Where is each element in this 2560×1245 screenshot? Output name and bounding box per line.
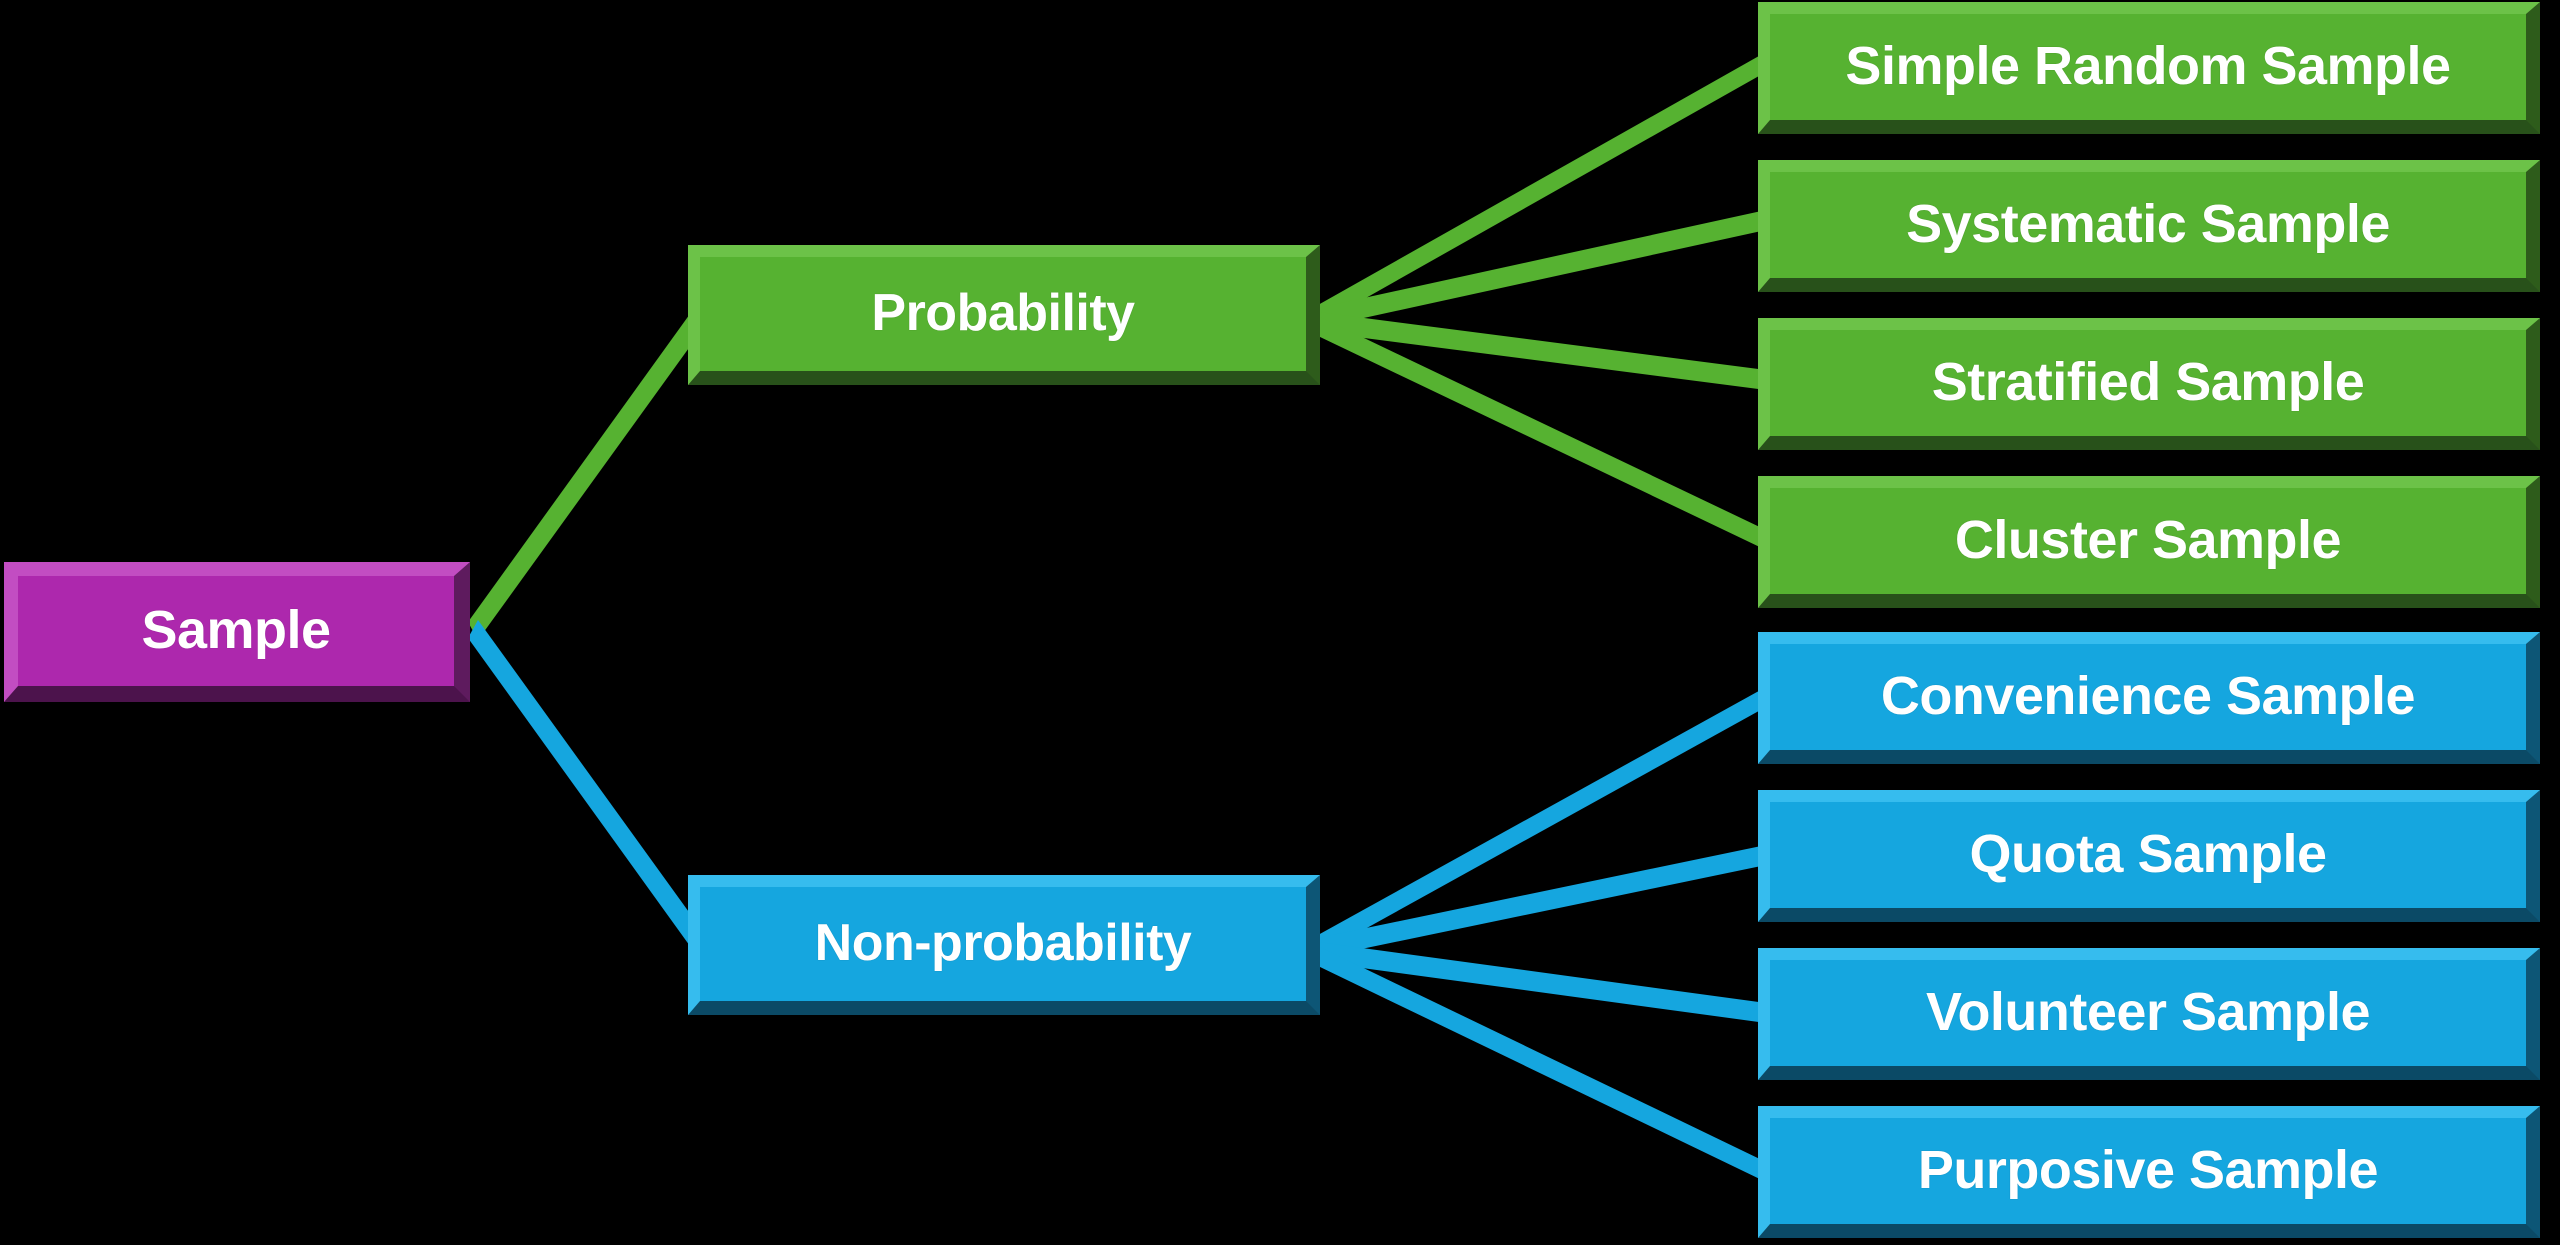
node-purposive-sample-label: Purposive Sample <box>1918 1143 2378 1197</box>
node-simple-random-sample-label: Simple Random Sample <box>1845 39 2450 93</box>
node-simple-random-sample[interactable]: Simple Random Sample <box>1758 2 2540 134</box>
node-sample[interactable]: Sample <box>4 562 470 702</box>
node-sample-label: Sample <box>141 603 330 657</box>
node-nonprobability-label: Non-probability <box>815 917 1192 969</box>
node-stratified-sample-label: Stratified Sample <box>1932 355 2365 409</box>
node-quota-sample-label: Quota Sample <box>1969 827 2326 881</box>
node-convenience-sample-label: Convenience Sample <box>1881 669 2415 723</box>
edge-sample-to-probability <box>468 300 712 640</box>
node-convenience-sample[interactable]: Convenience Sample <box>1758 632 2540 764</box>
edge-nonprobability-to-convenience <box>1318 687 1766 955</box>
node-volunteer-sample-label: Volunteer Sample <box>1926 985 2370 1039</box>
node-quota-sample[interactable]: Quota Sample <box>1758 790 2540 922</box>
node-systematic-sample-label: Systematic Sample <box>1906 197 2390 251</box>
node-probability[interactable]: Probability <box>688 245 1320 385</box>
node-stratified-sample[interactable]: Stratified Sample <box>1758 318 2540 450</box>
node-volunteer-sample[interactable]: Volunteer Sample <box>1758 948 2540 1080</box>
diagram-canvas: Sample Probability Non-probability Simpl… <box>0 0 2560 1245</box>
edge-probability-to-simple-random <box>1318 52 1766 325</box>
node-systematic-sample[interactable]: Systematic Sample <box>1758 160 2540 292</box>
node-purposive-sample[interactable]: Purposive Sample <box>1758 1106 2540 1238</box>
node-nonprobability[interactable]: Non-probability <box>688 875 1320 1015</box>
node-cluster-sample[interactable]: Cluster Sample <box>1758 476 2540 608</box>
node-cluster-sample-label: Cluster Sample <box>1955 513 2341 567</box>
edge-sample-to-nonprobability <box>468 620 712 960</box>
node-probability-label: Probability <box>871 287 1134 339</box>
